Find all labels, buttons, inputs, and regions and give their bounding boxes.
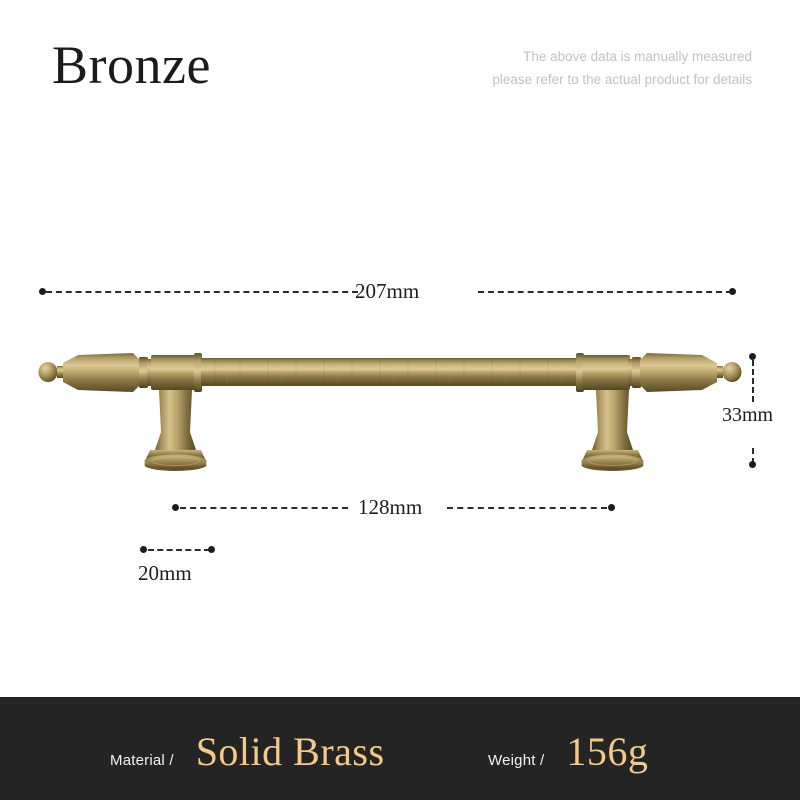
dimension-endpoint-left-center xyxy=(172,504,179,511)
product-spec-sheet: Bronze The above data is manually measur… xyxy=(0,0,800,800)
cabinet-handle-illustration xyxy=(0,0,800,800)
spec-weight-value: 156g xyxy=(566,728,648,775)
spec-weight-key: Weight / xyxy=(488,752,544,769)
dimension-endpoint-left-base xyxy=(140,546,147,553)
dimension-label-center-to-center: 128mm xyxy=(358,495,422,520)
dimension-label-projection-height: 33mm xyxy=(722,404,773,427)
spec-material: Material / Solid Brass xyxy=(110,728,385,775)
spec-material-value: Solid Brass xyxy=(196,728,385,775)
dimension-endpoint-top-projection xyxy=(749,353,756,360)
spec-material-key: Material / xyxy=(110,752,174,769)
spec-footer-bar: Material / Solid Brass Weight / 156g xyxy=(0,697,800,800)
dimension-endpoint-bottom-projection xyxy=(749,461,756,468)
dimension-endpoint-right-center xyxy=(608,504,615,511)
spec-weight: Weight / 156g xyxy=(488,728,648,775)
handle-geometry xyxy=(39,353,742,471)
dimension-label-base-diameter: 20mm xyxy=(138,561,192,586)
dimension-endpoint-right-base xyxy=(208,546,215,553)
dimension-line-base-diameter xyxy=(143,549,215,551)
